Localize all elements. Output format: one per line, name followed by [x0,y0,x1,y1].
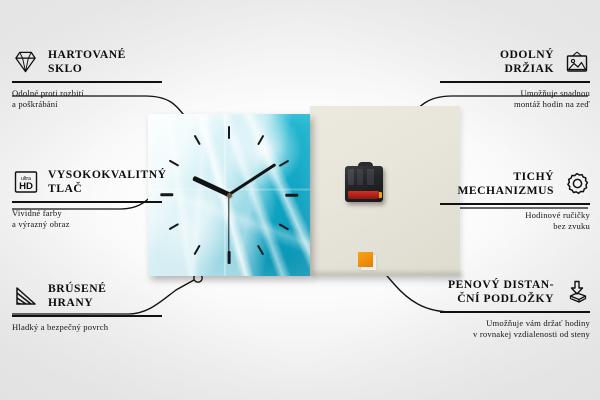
clock-movement-unit [345,166,383,202]
ground-edges-icon [12,283,39,310]
picture-frame-hanger-icon [563,49,590,76]
feature-heading: HARTOVANÉ SKLO [12,48,180,76]
feature-divider [12,201,162,202]
feature-description: Hladký a bezpečný povrch [12,322,180,333]
feature-desc-line1: Odolné proti rozbití [12,88,180,99]
foam-spacer-pad [358,252,373,267]
movement-housing-detail [348,169,380,185]
diamond-icon [12,49,39,76]
ultra-hd-icon: ultra HD [12,169,39,196]
feature-title-line2: HRANY [48,296,106,310]
feature-heading: PENOVÝ DISTAN- ČNÍ PODLOŽKY [422,278,590,306]
movement-battery [348,191,379,199]
foam-spacer-icon [563,279,590,306]
feature-desc-line2: a výrazný obraz [12,219,180,230]
feature-desc-line2: a poškrábání [12,99,180,110]
product-infographic: HARTOVANÉ SKLO Odolné proti rozbití a po… [0,0,600,400]
feature-title: BRÚSENÉ HRANY [48,282,106,310]
feature-title-line2: MECHANIZMUS [457,184,554,198]
feature-desc-line1: Hodinové ručičky [422,210,590,221]
feature-title-line1: ODOLNÝ [500,48,554,62]
feature-title: VYSOKOKVALITNÝ TLAČ [48,168,167,196]
feature-title-line2: SKLO [48,62,126,76]
feature-description: Odolné proti rozbití a poškrábání [12,88,180,111]
feature-title: HARTOVANÉ SKLO [48,48,126,76]
feature-desc-line1: Vividné farby [12,208,180,219]
feature-divider [440,203,590,204]
feature-title: ODOLNÝ DRŽIAK [500,48,554,76]
feature-brusene-hrany: BRÚSENÉ HRANY Hladký a bezpečný povrch [12,282,180,333]
feature-title: TICHÝ MECHANIZMUS [457,170,554,198]
feature-desc-line1: Hladký a bezpečný povrch [12,322,180,333]
clock-center-cap [227,193,232,198]
feature-heading: ultra HD VYSOKOKVALITNÝ TLAČ [12,168,180,196]
feature-heading: TICHÝ MECHANIZMUS [422,170,590,198]
feature-description: Umožňuje snadnou montáž hodin na zeď [422,88,590,111]
feature-divider [12,315,162,316]
svg-text:HD: HD [19,181,33,192]
feature-description: Vividné farby a výrazný obraz [12,208,180,231]
feature-divider [440,81,590,82]
feature-title-line1: HARTOVANÉ [48,48,126,62]
feature-penove-distancne-podlozky: PENOVÝ DISTAN- ČNÍ PODLOŽKY Umožňuje vám… [422,278,590,341]
feature-hartovane-sklo: HARTOVANÉ SKLO Odolné proti rozbití a po… [12,48,180,111]
feature-heading: BRÚSENÉ HRANY [12,282,180,310]
clock-tick-3 [285,194,298,197]
feature-vysokokvalitny-tlac: ultra HD VYSOKOKVALITNÝ TLAČ Vividné far… [12,168,180,231]
feature-divider [12,81,162,82]
feature-title-line2: TLAČ [48,182,167,196]
feature-desc-line2: bez zvuku [422,221,590,232]
movement-housing [345,166,383,202]
feature-divider [440,311,590,312]
feature-description: Umožňuje vám držať hodiny v rovnakej vzd… [422,318,590,341]
feature-desc-line2: v rovnakej vzdialenosti od steny [422,329,590,340]
feature-title-line2: DRŽIAK [500,62,554,76]
feature-title-line1: BRÚSENÉ [48,282,106,296]
feature-title: PENOVÝ DISTAN- ČNÍ PODLOŽKY [448,278,554,306]
product-photo-stage [140,104,460,292]
feature-odolny-drziak: ODOLNÝ DRŽIAK Umožňuje snadnou montáž ho… [422,48,590,111]
feature-heading: ODOLNÝ DRŽIAK [422,48,590,76]
feature-title-line1: TICHÝ [457,170,554,184]
feature-tichy-mechanizmus: TICHÝ MECHANIZMUS Hodinové ručičky bez z… [422,170,590,233]
clock-tick-12 [228,126,231,139]
gear-icon [563,171,590,198]
feature-desc-line2: montáž hodin na zeď [422,99,590,110]
feature-title-line1: PENOVÝ DISTAN- [448,278,554,292]
feature-desc-line1: Umožňuje vám držať hodiny [422,318,590,329]
feature-description: Hodinové ručičky bez zvuku [422,210,590,233]
feature-title-line1: VYSOKOKVALITNÝ [48,168,167,182]
feature-desc-line1: Umožňuje snadnou [422,88,590,99]
feature-title-line2: ČNÍ PODLOŽKY [448,292,554,306]
